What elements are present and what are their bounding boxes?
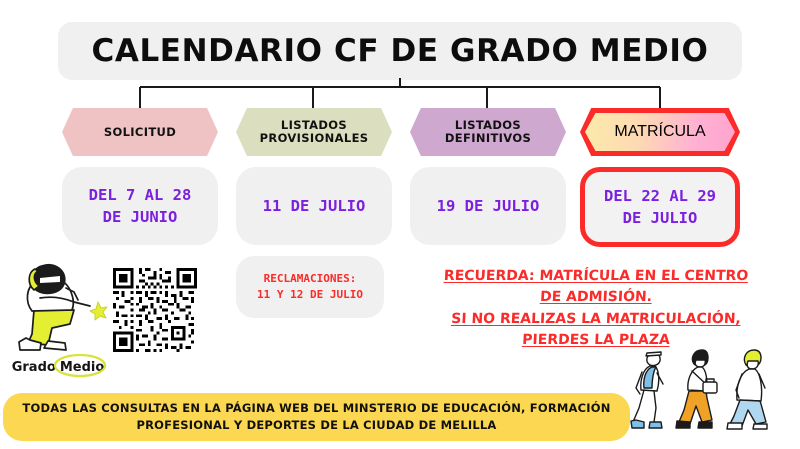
header-label-listados-definitivos: LISTADOS DEFINITIVOS bbox=[445, 119, 531, 145]
date-card-listados-provisionales: 11 DE JULIO bbox=[236, 167, 392, 245]
grado-medio-part1: Grado bbox=[12, 360, 56, 375]
header-banner-listados-definitivos: LISTADOS DEFINITIVOS bbox=[410, 108, 566, 156]
header-label-matricula: MATRÍCULA bbox=[614, 123, 705, 141]
welder-illustration-icon bbox=[8, 258, 108, 356]
date-text-listados-provisionales: 11 DE JULIO bbox=[263, 195, 366, 217]
date-card-listados-definitivos: 19 DE JULIO bbox=[410, 167, 566, 245]
header-banner-listados-provisionales: LISTADOS PROVISIONALES bbox=[236, 108, 392, 156]
date-card-matricula: DEL 22 AL 29 DE JULIO bbox=[580, 167, 740, 247]
column-listados-provisionales: LISTADOS PROVISIONALES 11 DE JULIO bbox=[236, 108, 392, 245]
bottom-banner: TODAS LAS CONSULTAS EN LA PÁGINA WEB DEL… bbox=[3, 393, 630, 441]
recuerda-line-3: SI NO REALIZAS LA MATRICULACIÓN, bbox=[397, 309, 794, 330]
header-label-listados-provisionales: LISTADOS PROVISIONALES bbox=[260, 119, 369, 145]
grado-medio-label: Grado Medio bbox=[4, 354, 112, 380]
date-text-matricula: DEL 22 AL 29 DE JULIO bbox=[604, 185, 716, 230]
poster-root: CALENDARIO CF DE GRADO MEDIO SOLICITUD D… bbox=[0, 0, 800, 449]
column-listados-definitivos: LISTADOS DEFINITIVOS 19 DE JULIO bbox=[410, 108, 566, 245]
date-text-solicitud: DEL 7 AL 28 DE JUNIO bbox=[89, 184, 192, 229]
reclamaciones-text: RECLAMACIONES: 11 Y 12 DE JULIO bbox=[257, 271, 363, 303]
bottom-banner-text: TODAS LAS CONSULTAS EN LA PÁGINA WEB DEL… bbox=[22, 400, 610, 435]
page-title: CALENDARIO CF DE GRADO MEDIO bbox=[58, 22, 742, 80]
walking-students-illustration-icon bbox=[630, 336, 796, 436]
qr-code-icon[interactable] bbox=[113, 268, 197, 352]
reclamaciones-card: RECLAMACIONES: 11 Y 12 DE JULIO bbox=[236, 256, 384, 318]
header-banner-solicitud: SOLICITUD bbox=[62, 108, 218, 156]
header-label-solicitud: SOLICITUD bbox=[104, 126, 176, 139]
recuerda-line-1: RECUERDA: MATRÍCULA EN EL CENTRO bbox=[397, 266, 794, 287]
column-solicitud: SOLICITUD DEL 7 AL 28 DE JUNIO bbox=[62, 108, 218, 245]
recuerda-line-2: DE ADMISIÓN. bbox=[397, 287, 794, 308]
date-card-solicitud: DEL 7 AL 28 DE JUNIO bbox=[62, 167, 218, 245]
column-matricula: MATRÍCULA DEL 22 AL 29 DE JULIO bbox=[580, 108, 740, 247]
highlight-ellipse-icon bbox=[53, 353, 107, 378]
date-text-listados-definitivos: 19 DE JULIO bbox=[437, 195, 540, 217]
header-banner-matricula: MATRÍCULA bbox=[580, 108, 740, 156]
page-title-text: CALENDARIO CF DE GRADO MEDIO bbox=[92, 33, 709, 69]
